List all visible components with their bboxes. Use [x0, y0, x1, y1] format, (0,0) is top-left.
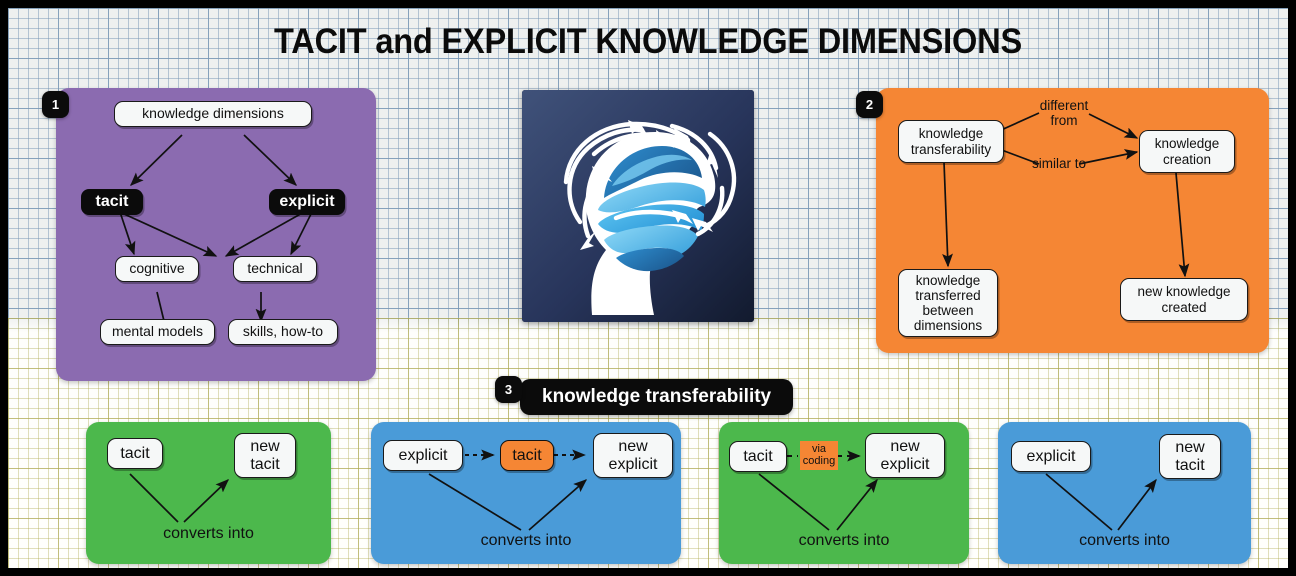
panel-tacit-to-new-tacit: tacit new tacit converts into [86, 422, 331, 564]
node-tacit[interactable]: tacit [81, 189, 143, 215]
page-title: TACIT and EXPLICIT KNOWLEDGE DIMENSIONS [53, 22, 1243, 62]
node-source-tacit[interactable]: tacit [107, 438, 163, 469]
caption-converts-into: converts into [998, 532, 1251, 550]
section-3-title: knowledge transferability [520, 379, 793, 415]
edge-label-similar-to: similar to [1023, 156, 1095, 171]
node-new-knowledge-created[interactable]: new knowledge created [1120, 278, 1248, 321]
node-target-new-explicit[interactable]: new explicit [865, 433, 945, 478]
badge-1: 1 [42, 91, 69, 118]
node-source-explicit[interactable]: explicit [1011, 441, 1091, 472]
brain-illustration [522, 90, 754, 322]
badge-2: 2 [856, 91, 883, 118]
node-knowledge-dimensions[interactable]: knowledge dimensions [114, 101, 312, 127]
node-target-new-explicit[interactable]: new explicit [593, 433, 673, 478]
panel-tacit-to-new-explicit: tacit via coding new explicit converts i… [719, 422, 969, 564]
node-source-tacit[interactable]: tacit [729, 441, 787, 472]
caption-converts-into: converts into [371, 532, 681, 550]
node-knowledge-transferred-between-dimensions[interactable]: knowledge transferred between dimensions [898, 269, 998, 337]
graph-paper-background: TACIT and EXPLICIT KNOWLEDGE DIMENSIONS [8, 8, 1288, 568]
brain-graphic [522, 90, 754, 322]
panel-explicit-to-new-explicit: explicit tacit new explicit converts int… [371, 422, 681, 564]
panel-knowledge-transferability-vs-creation: knowledge transferability knowledge crea… [876, 88, 1269, 353]
node-cognitive[interactable]: cognitive [115, 256, 199, 282]
node-explicit[interactable]: explicit [269, 189, 345, 215]
panel-knowledge-dimensions: knowledge dimensions tacit explicit cogn… [56, 88, 376, 381]
node-knowledge-transferability[interactable]: knowledge transferability [898, 120, 1004, 163]
node-knowledge-creation[interactable]: knowledge creation [1139, 130, 1235, 173]
node-target-new-tacit[interactable]: new tacit [1159, 434, 1221, 479]
caption-converts-into: converts into [719, 532, 969, 550]
caption-converts-into: converts into [86, 525, 331, 543]
node-middle-via-coding[interactable]: via coding [800, 441, 838, 470]
node-technical[interactable]: technical [233, 256, 317, 282]
panel-explicit-to-new-tacit: explicit new tacit converts into [998, 422, 1251, 564]
infographic-canvas: TACIT and EXPLICIT KNOWLEDGE DIMENSIONS [0, 0, 1296, 576]
node-target-new-tacit[interactable]: new tacit [234, 433, 296, 478]
node-source-explicit[interactable]: explicit [383, 440, 463, 471]
badge-3: 3 [495, 376, 522, 403]
node-mental-models[interactable]: mental models [100, 319, 215, 345]
edge-label-different-from: different from [1028, 98, 1100, 128]
node-skills-how-to[interactable]: skills, how-to [228, 319, 338, 345]
node-middle-tacit[interactable]: tacit [500, 440, 554, 471]
